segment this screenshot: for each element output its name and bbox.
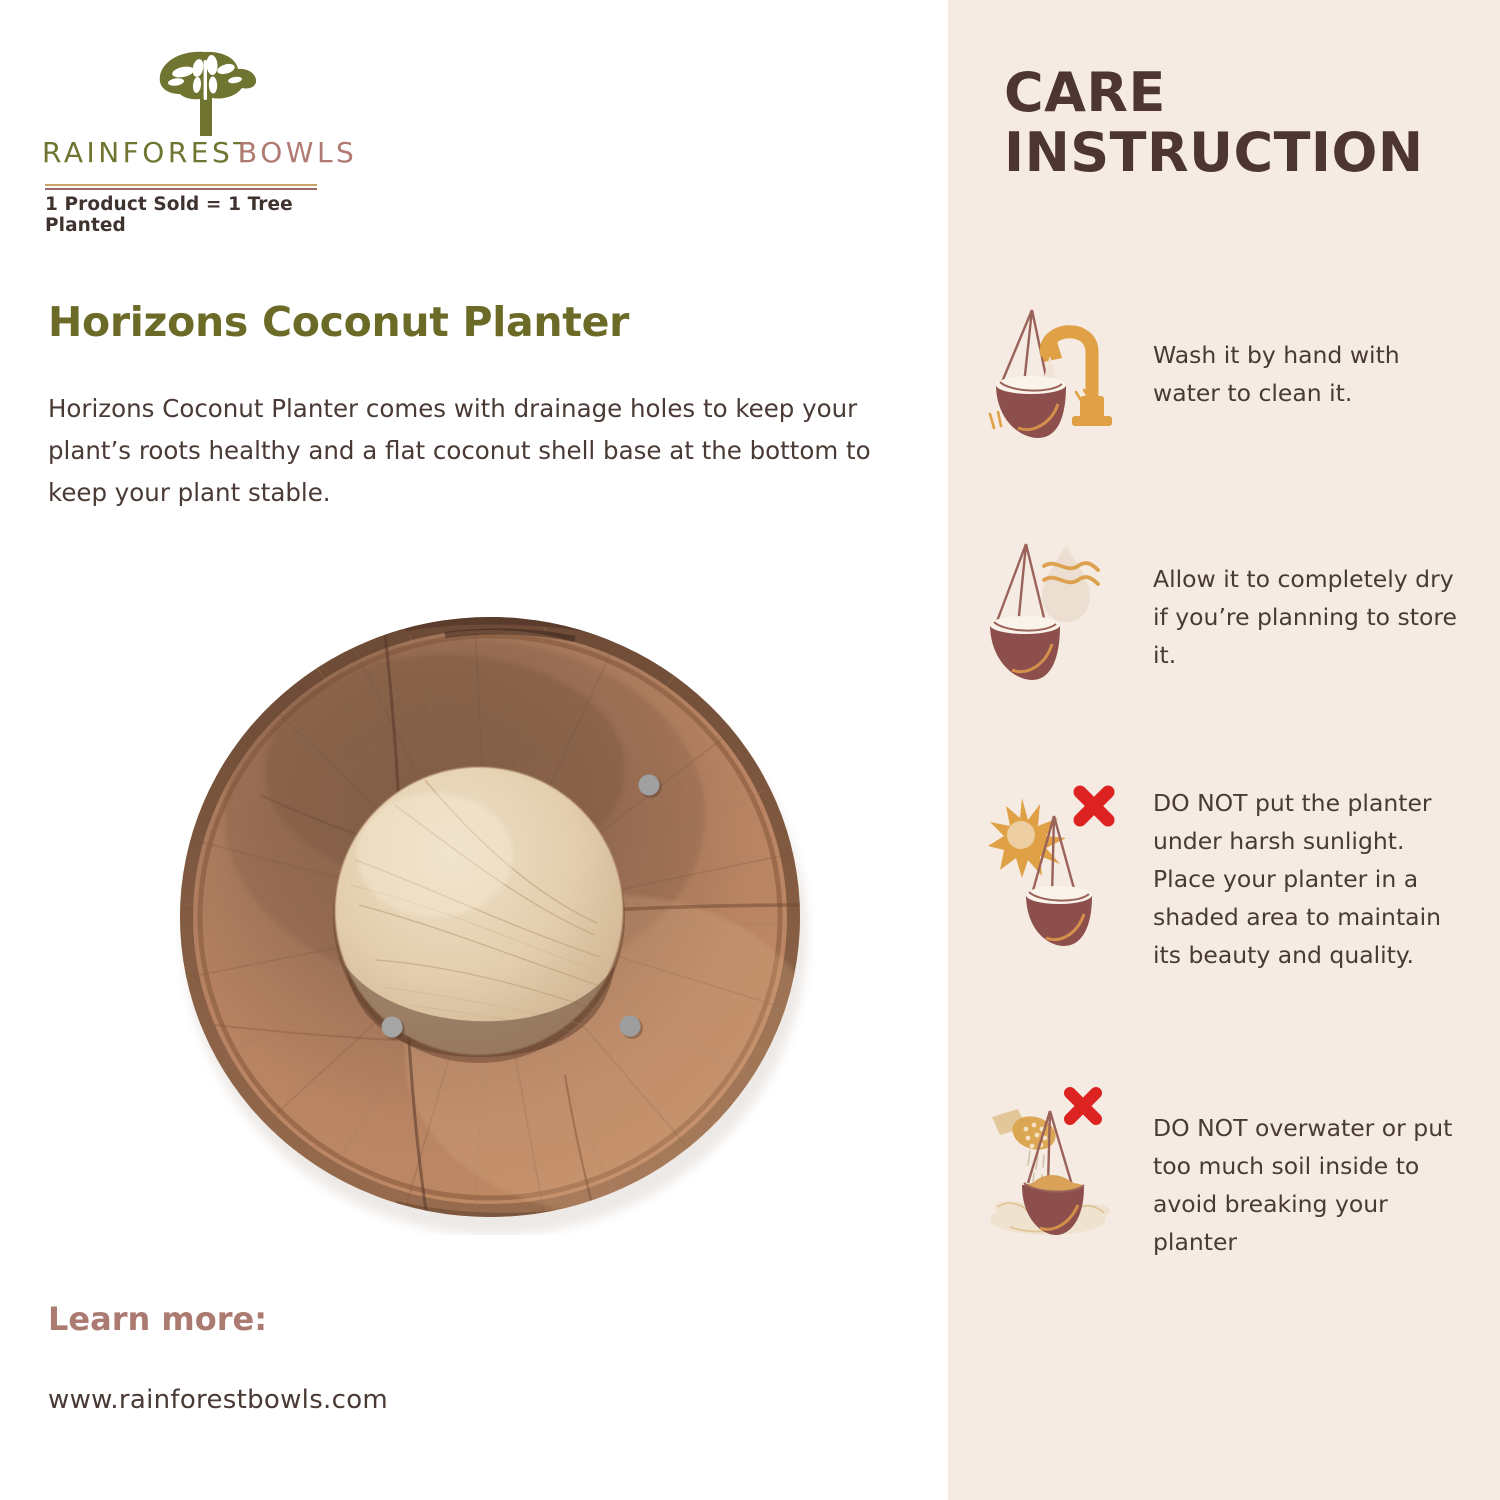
logo-divider-mauve <box>45 188 317 190</box>
red-x-icon <box>1070 1093 1096 1119</box>
hand-wash-faucet-coconut-bowl-icon <box>988 296 1118 446</box>
product-photo <box>145 605 835 1235</box>
care-item-text: DO NOT put the planter under harsh sunli… <box>1153 784 1473 974</box>
acacia-tree-icon <box>150 38 260 138</box>
care-item-text: Wash it by hand with water to clean it. <box>1153 336 1473 412</box>
no-sunlight-coconut-bowl-icon <box>988 778 1118 928</box>
brand-name-bowls: BOWLS <box>238 136 357 169</box>
brand-tagline: 1 Product Sold = 1 Tree Planted <box>45 194 335 236</box>
no-overwater-soil-coconut-bowl-icon <box>988 1085 1118 1235</box>
infographic-page: RAINFOREST BOWLS 1 Product Sold = 1 Tree… <box>0 0 1500 1500</box>
product-description: Horizons Coconut Planter comes with drai… <box>48 388 893 514</box>
care-item-text: Allow it to completely dry if you’re pla… <box>1153 560 1473 674</box>
red-x-icon <box>1080 792 1108 820</box>
website-link[interactable]: www.rainforestbowls.com <box>48 1385 388 1415</box>
left-panel: RAINFOREST BOWLS 1 Product Sold = 1 Tree… <box>0 0 948 1500</box>
care-instruction-panel: CARE INSTRUCTION <box>948 0 1500 1500</box>
learn-more-label: Learn more: <box>48 1300 267 1338</box>
care-instruction-heading: CARE INSTRUCTION <box>1004 63 1474 184</box>
air-dry-coconut-bowl-icon <box>988 538 1118 688</box>
care-item-text: DO NOT overwater or put too much soil in… <box>1153 1109 1473 1261</box>
logo-divider-gold <box>45 184 317 186</box>
brand-name-rainforest: RAINFOREST <box>42 136 254 169</box>
page-title: Horizons Coconut Planter <box>48 300 908 345</box>
care-heading-line-1: CARE <box>1004 61 1166 124</box>
care-heading-line-2: INSTRUCTION <box>1004 121 1424 184</box>
brand-wordmark: RAINFOREST BOWLS <box>40 136 340 178</box>
